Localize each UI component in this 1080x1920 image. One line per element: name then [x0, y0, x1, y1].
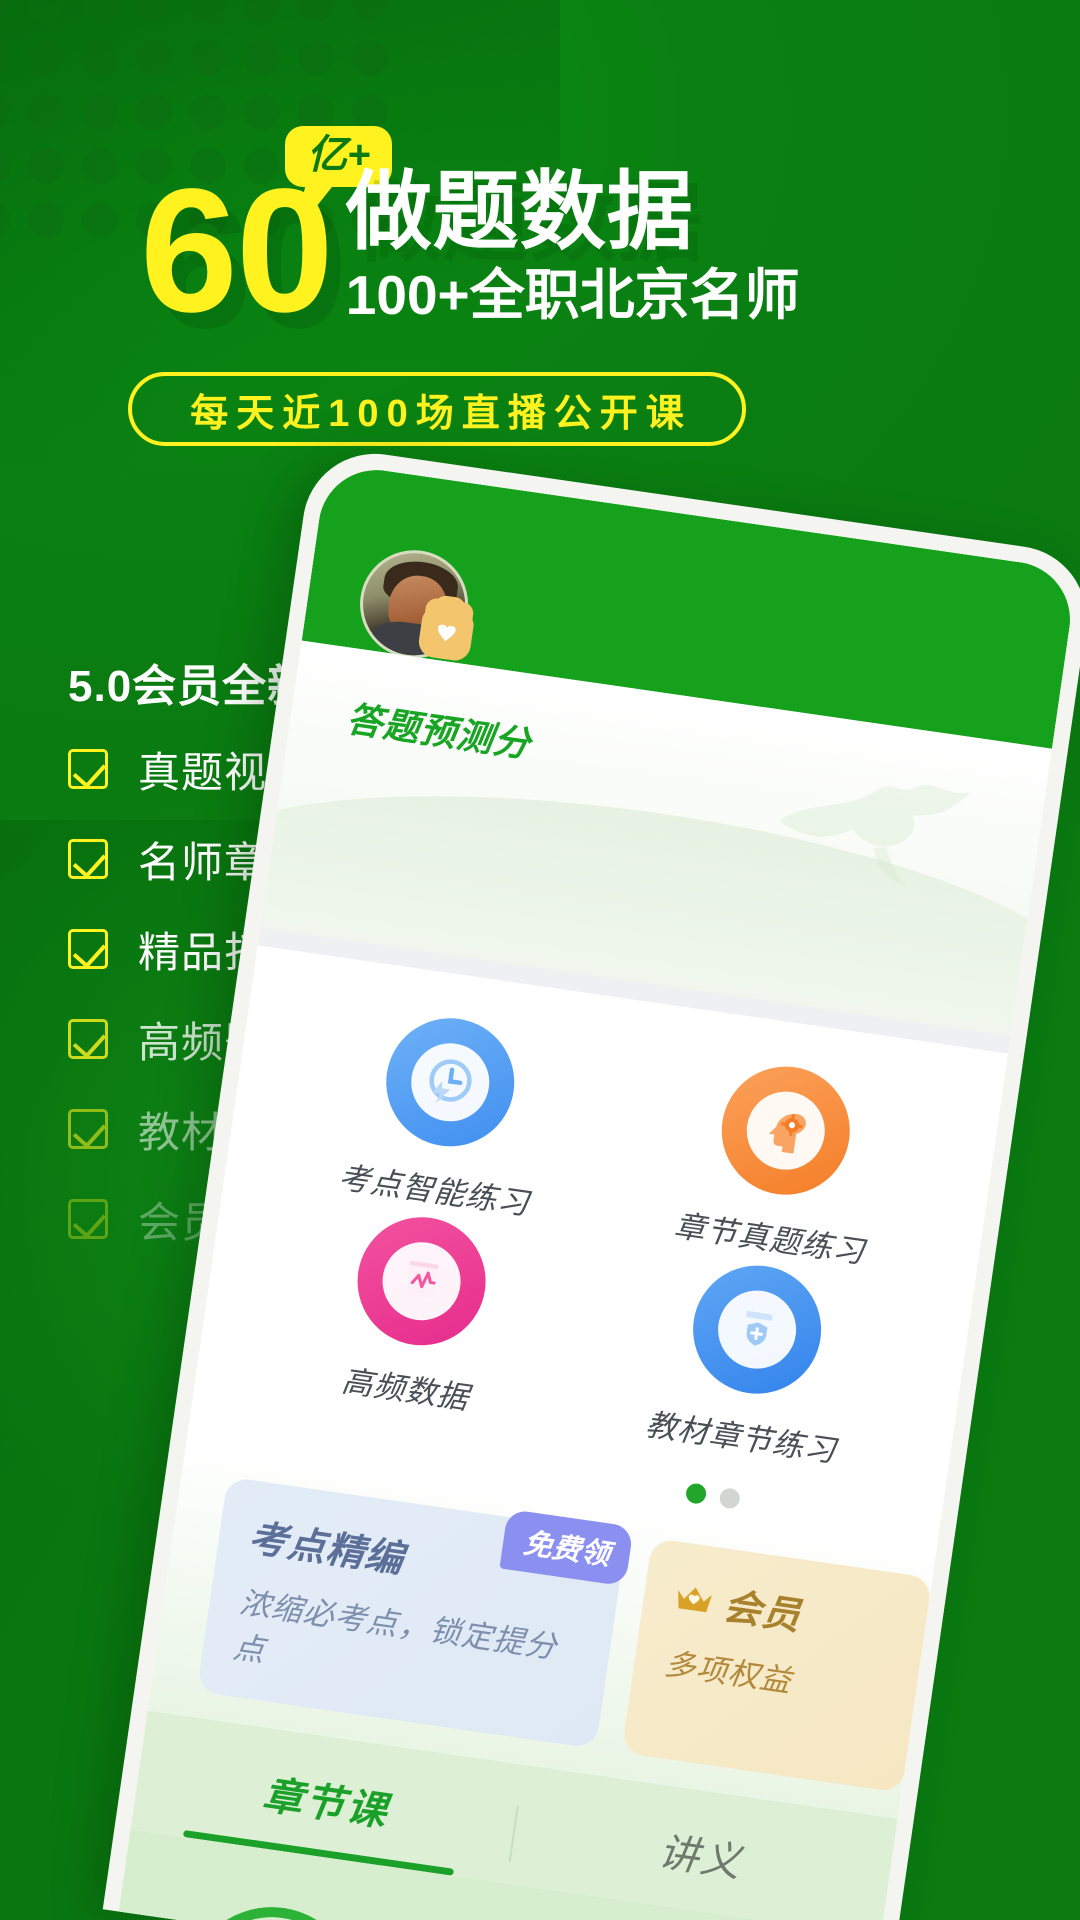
feature-icon-cell[interactable]: 教材章节练习	[570, 1242, 933, 1481]
promo-card-title-member: 会员	[671, 1568, 899, 1654]
promo-card-member-label: 会员	[720, 1575, 805, 1641]
clock-lightning-icon	[377, 1010, 522, 1155]
promo-card-kaodian[interactable]: 免费领 考点精编 浓缩必考点，锁定提分点	[197, 1477, 627, 1749]
waving-hand-icon	[417, 606, 476, 663]
checkbox-checked-icon	[68, 929, 108, 969]
checkbox-checked-icon	[68, 1019, 108, 1059]
hero-headline-row: 60 做题数据 100+全职北京名师	[140, 168, 800, 333]
chart-receipt-icon	[349, 1209, 494, 1354]
hero-big-number: 60	[140, 171, 332, 333]
icon-inner-disc	[712, 1285, 800, 1373]
hero-text-block: 做题数据 100+全职北京名师	[346, 168, 800, 333]
pagination-dot[interactable]	[685, 1482, 708, 1505]
icon-inner-disc	[406, 1038, 494, 1126]
icon-inner-disc	[377, 1237, 465, 1325]
crown-icon	[672, 1579, 716, 1616]
book-shield-icon	[684, 1257, 829, 1402]
promo-card-member-subtitle: 多项权益	[662, 1638, 889, 1714]
checkbox-checked-icon	[68, 839, 108, 879]
pagination-dot[interactable]	[718, 1487, 741, 1510]
promo-card-member[interactable]: 会员 多项权益	[622, 1538, 933, 1793]
live-class-pill[interactable]: 每天近100场直播公开课	[128, 372, 746, 446]
icon-inner-disc	[741, 1086, 829, 1174]
feature-icon-cell[interactable]: 高频数据	[235, 1194, 598, 1433]
hero-subtitle: 100+全职北京名师	[346, 265, 800, 326]
head-gear-icon	[713, 1058, 858, 1203]
feature-icon-label: 高频数据	[339, 1355, 472, 1418]
feature-icon-cell[interactable]: 考点智能练习	[264, 995, 627, 1234]
hero-title: 做题数据	[346, 168, 800, 257]
live-class-pill-label: 每天近100场直播公开课	[182, 382, 691, 437]
feature-icon-cell[interactable]: 章节真题练习	[599, 1043, 962, 1282]
progress-ring	[163, 1883, 381, 1920]
score-label: 答题预测分	[344, 690, 535, 768]
promo-poster: 亿+ 60 做题数据 100+全职北京名师 每天近100场直播公开课 5.0会员…	[0, 0, 1080, 1920]
checkbox-checked-icon	[68, 749, 108, 789]
checkbox-checked-icon	[68, 1109, 108, 1149]
checkbox-checked-icon	[68, 1199, 108, 1239]
